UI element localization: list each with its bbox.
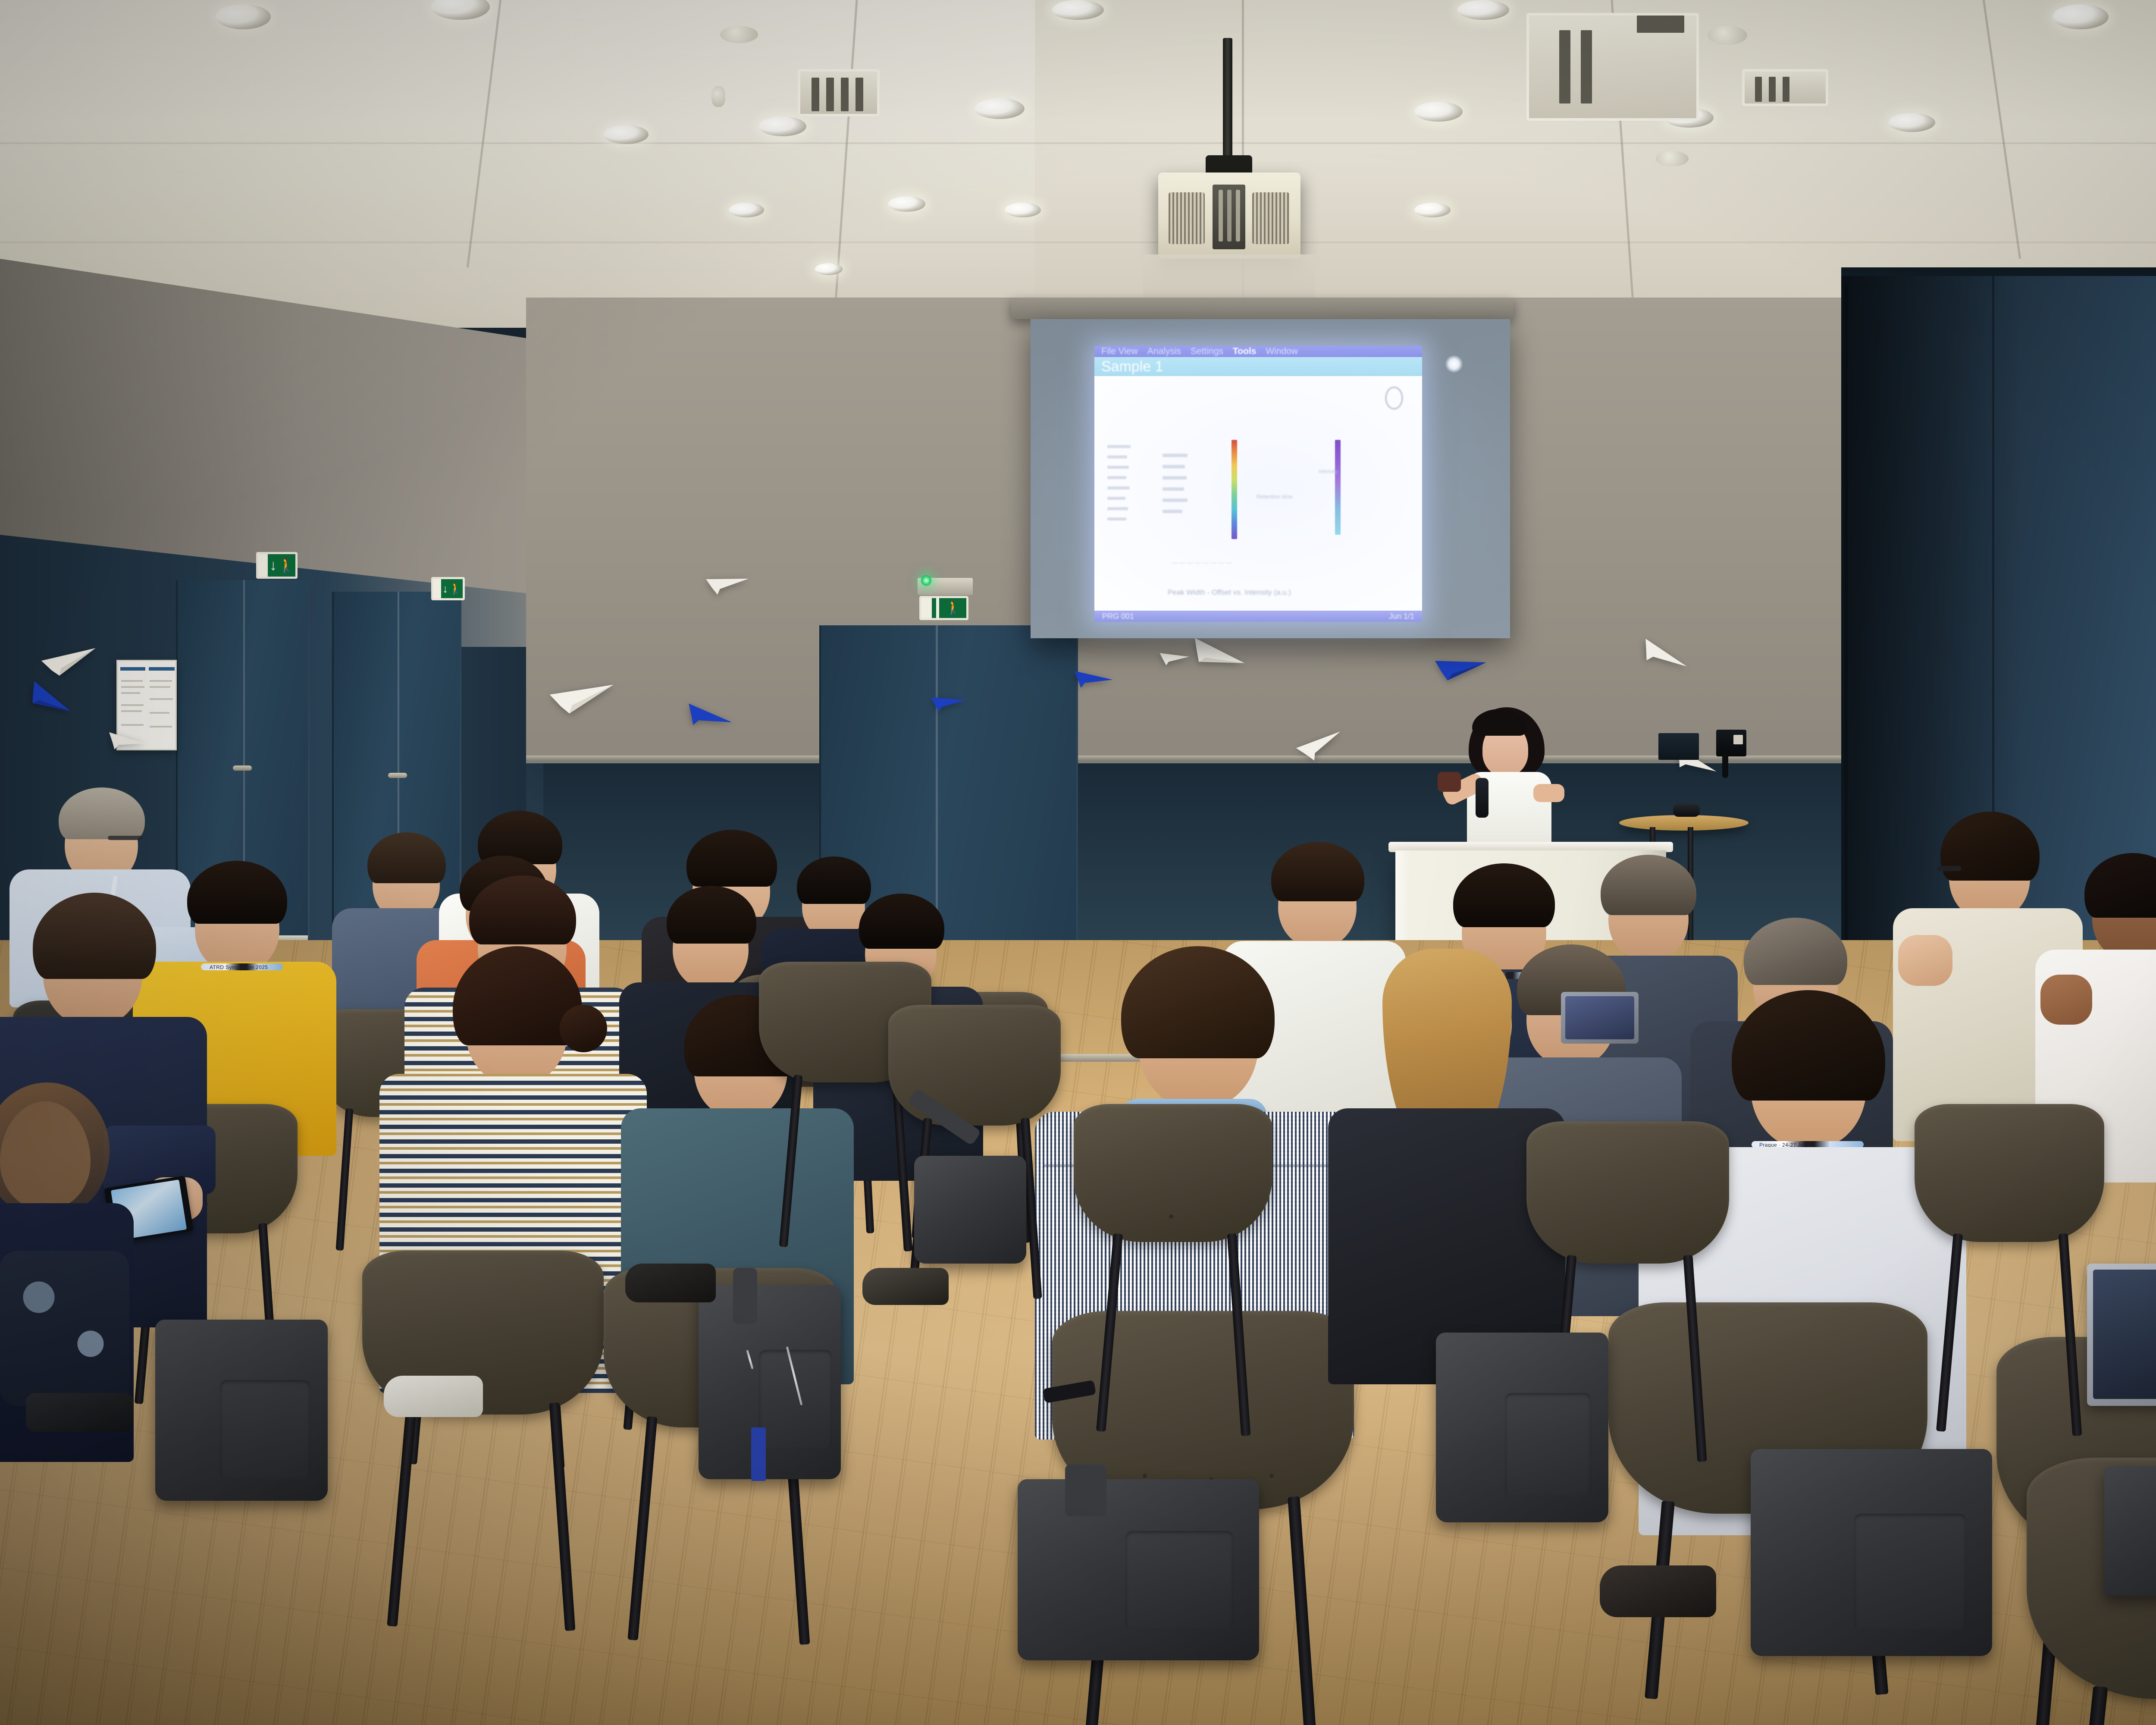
slide-body: Retention time Intensity — — — — — — — —… (1094, 376, 1422, 622)
shoe (625, 1264, 716, 1302)
downlight (729, 203, 764, 217)
screen-housing (1011, 298, 1514, 319)
paper-airplane-decal (1073, 669, 1114, 692)
hand (1898, 935, 1952, 986)
screen-light-hotspot (1445, 355, 1463, 373)
chair-empty[interactable] (1915, 1104, 2104, 1242)
backpack (699, 1285, 841, 1479)
backpack (1751, 1449, 1992, 1656)
door-handle[interactable] (233, 765, 252, 771)
backpack (155, 1320, 328, 1501)
slide-footer: PRG 001 Jun 1/1 (1094, 611, 1422, 622)
projector-mount-pole (1223, 38, 1232, 163)
slide-menu-item: Settings (1191, 346, 1223, 357)
sandal (26, 1393, 134, 1432)
sprinkler-head (711, 86, 725, 107)
slide-titlebar: Sample 1 (1094, 357, 1422, 376)
downlight (975, 98, 1025, 119)
hvac-vent (1526, 13, 1699, 121)
presentation-slide: File View Analysis Settings Tools Window… (1094, 346, 1422, 622)
laptop[interactable] (1561, 992, 1639, 1044)
downlight (1414, 203, 1451, 217)
slide-menu-item-active: Tools (1233, 346, 1256, 357)
slide-menu-item: Analysis (1147, 346, 1181, 357)
slide-menubar: File View Analysis Settings Tools Window (1094, 346, 1422, 357)
shoulder-bag (914, 1156, 1026, 1264)
shoe (1600, 1565, 1716, 1617)
projection-screen: File View Analysis Settings Tools Window… (1031, 319, 1510, 638)
door-handle[interactable] (388, 773, 407, 778)
round-side-table (1619, 815, 1749, 831)
downlight (815, 263, 843, 275)
backpack (1018, 1479, 1259, 1660)
lecture-hall-photo: ↓ 🚶 ↓ 🚶 🚶 (0, 0, 2156, 1725)
table-object-clicker (1673, 804, 1700, 817)
shoe (384, 1376, 483, 1417)
slide-body-text: — — — — — — — — (1172, 559, 1232, 566)
viridis-colorbar (1335, 440, 1341, 535)
slide-menu-item: Window (1266, 346, 1298, 357)
laptop-sleeve (2104, 1466, 2156, 1596)
downlight (1005, 203, 1041, 217)
downlight (759, 116, 806, 136)
slide-corner-logo (1385, 386, 1403, 410)
paper-airplane-decal (1159, 651, 1190, 667)
downlight (1414, 102, 1463, 122)
laptop[interactable] (2087, 1264, 2156, 1406)
rainbow-colorbar (1232, 440, 1237, 539)
paper-airplane-decal (931, 693, 968, 714)
hair-bun (560, 1005, 607, 1052)
slide-body-text: Retention time (1257, 493, 1293, 500)
floral-trouser (0, 1251, 129, 1406)
chair-empty[interactable] (1074, 1104, 1272, 1242)
slide-footer-right: Jun 1/1 (1389, 612, 1414, 621)
wall-telephone[interactable] (1716, 730, 1746, 756)
microphone (1476, 778, 1489, 818)
smoke-detector (1708, 26, 1747, 45)
slide-body-text: Intensity (1319, 468, 1338, 474)
smoke-detector (1656, 151, 1689, 166)
hvac-vent (798, 69, 880, 116)
downlight (1457, 0, 1509, 20)
downlight (1052, 0, 1104, 20)
presenter (1427, 707, 1583, 854)
lanyard-text: ATRD Symposium 2025 (210, 964, 268, 970)
slide-menu-item: File View (1101, 346, 1138, 357)
ceiling (0, 0, 2156, 328)
exit-sign-front: 🚶 (919, 596, 968, 620)
exit-sign-left-1: ↓ 🚶 (256, 552, 298, 579)
front-wall-chair-rail (526, 756, 1846, 761)
slide-title: Sample 1 (1101, 358, 1163, 375)
smoke-detector (720, 26, 758, 43)
downlight (604, 125, 649, 144)
chair-empty[interactable] (1526, 1121, 1729, 1264)
projector (1158, 172, 1300, 259)
hvac-vent (1742, 69, 1828, 106)
shoe (862, 1268, 949, 1305)
paper-airplane-decal (1435, 653, 1489, 684)
chair-empty[interactable] (888, 1005, 1061, 1126)
downlight (1889, 113, 1935, 132)
eyeglasses (108, 836, 143, 840)
downlight (216, 4, 271, 29)
wall-control-panel[interactable] (1658, 733, 1699, 760)
slide-caption-text: Peak Width - Offset vs. Intensity (a.u.) (1168, 588, 1291, 597)
downlight (2053, 4, 2109, 29)
downlight (888, 196, 925, 212)
exit-sign-left-2: ↓ 🚶 (431, 577, 465, 600)
hand (2040, 975, 2092, 1025)
slide-footer-left: PRG 001 (1102, 612, 1134, 621)
eyeglasses (1937, 866, 1961, 871)
exit-status-led (921, 575, 931, 586)
backpack (1436, 1333, 1608, 1522)
presenter-clicker (1438, 772, 1461, 792)
